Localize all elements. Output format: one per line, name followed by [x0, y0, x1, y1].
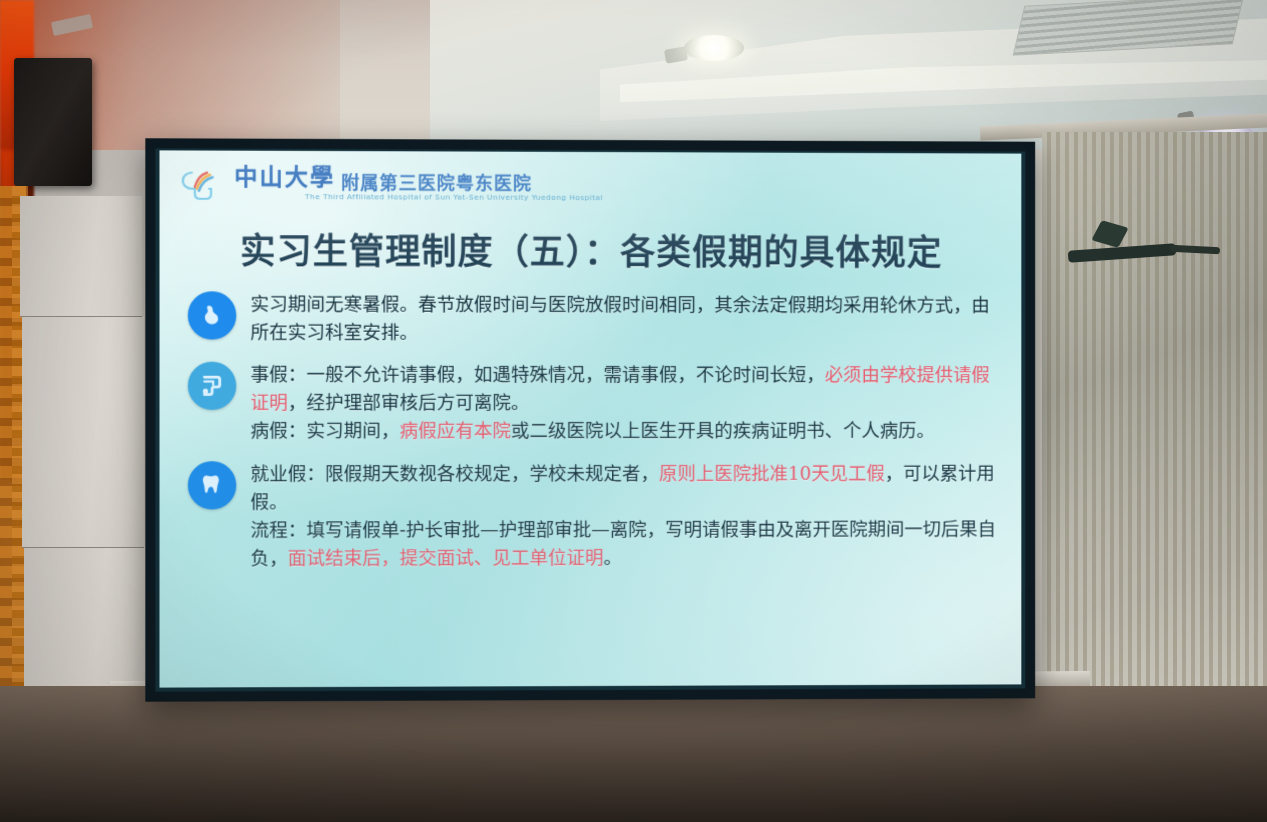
highlight-run: 原则上医院批准10天见工假: [659, 463, 885, 484]
bullet-3-text-line-1: 就业假：限假期天数视各校规定，学校未规定者，原则上医院批准10天见工假，可以累计…: [250, 460, 1003, 517]
bullet-row-1: 实习期间无寒暑假。春节放假时间与医院放假时间相同，其余法定假期均采用轮休方式，由…: [188, 291, 1004, 348]
bullet-3-text-line-2: 流程：填写请假单-护长审批—护理部审批—离院，写明请假事由及离开医院期间一切后果…: [250, 516, 1003, 574]
text-run: 病假：实习期间，: [250, 421, 399, 442]
highlight-run: 面试结束后，提交面试、见工单位证明: [288, 548, 604, 570]
intestine-icon: [188, 362, 237, 410]
audience-area: [0, 572, 1267, 822]
text-run: 事假：一般不允许请事假，如遇特殊情况，需请事假，不论时间长短，: [250, 365, 824, 386]
stomach-icon: [188, 291, 237, 339]
slide-title: 实习生管理制度（五）：各类假期的具体规定: [159, 223, 1021, 276]
hospital-logo: 中山大學附属第三医院粤东医院 The Third Affiliated Hosp…: [182, 165, 532, 206]
bullet-1-text-line-1: 实习期间无寒暑假。春节放假时间与医院放假时间相同，其余法定假期均采用轮休方式，由…: [250, 291, 1003, 348]
text-run: 。: [604, 548, 623, 569]
tooth-icon: [188, 461, 237, 509]
downlight-1: [684, 35, 744, 61]
logo-university-name: 中山大學: [234, 165, 335, 191]
spacer: [188, 446, 1004, 460]
sysu-cloud-logo-icon: [182, 165, 228, 205]
text-run: 就业假：限假期天数视各校规定，学校未规定者，: [250, 464, 658, 485]
bullet-row-2: 事假：一般不允许请事假，如遇特殊情况，需请事假，不论时间长短，必须由学校提供请假…: [188, 362, 1004, 447]
spacer: [188, 348, 1004, 363]
bullet-row-3: 就业假：限假期天数视各校规定，学校未规定者，原则上医院批准10天见工假，可以累计…: [188, 460, 1004, 574]
wall-speaker: [14, 58, 92, 186]
left-wall-panel-top: [20, 196, 142, 317]
logo-english-name: The Third Affiliated Hospital of Sun Yat…: [305, 192, 603, 202]
lecture-hall-screenshot: 中山大學附属第三医院粤东医院 The Third Affiliated Hosp…: [0, 0, 1267, 822]
text-run: ，经护理部审核后方可离院。: [288, 393, 530, 414]
bullet-2-text-line-2: 病假：实习期间，病假应有本院或二级医院以上医生开具的疾病证明书、个人病历。: [250, 418, 1003, 446]
text-run: 实习期间无寒暑假。春节放假时间与医院放假时间相同，其余法定假期均采用轮休方式，由…: [250, 294, 989, 344]
left-wall-panel-middle: [22, 317, 144, 548]
highlight-run: 病假应有本院: [400, 421, 511, 442]
slide-body: 实习期间无寒暑假。春节放假时间与医院放假时间相同，其余法定假期均采用轮休方式，由…: [188, 291, 1004, 574]
text-run: 或二级医院以上医生开具的疾病证明书、个人病历。: [511, 421, 935, 442]
bullet-2-text-line-1: 事假：一般不允许请事假，如遇特殊情况，需请事假，不论时间长短，必须由学校提供请假…: [250, 362, 1003, 419]
